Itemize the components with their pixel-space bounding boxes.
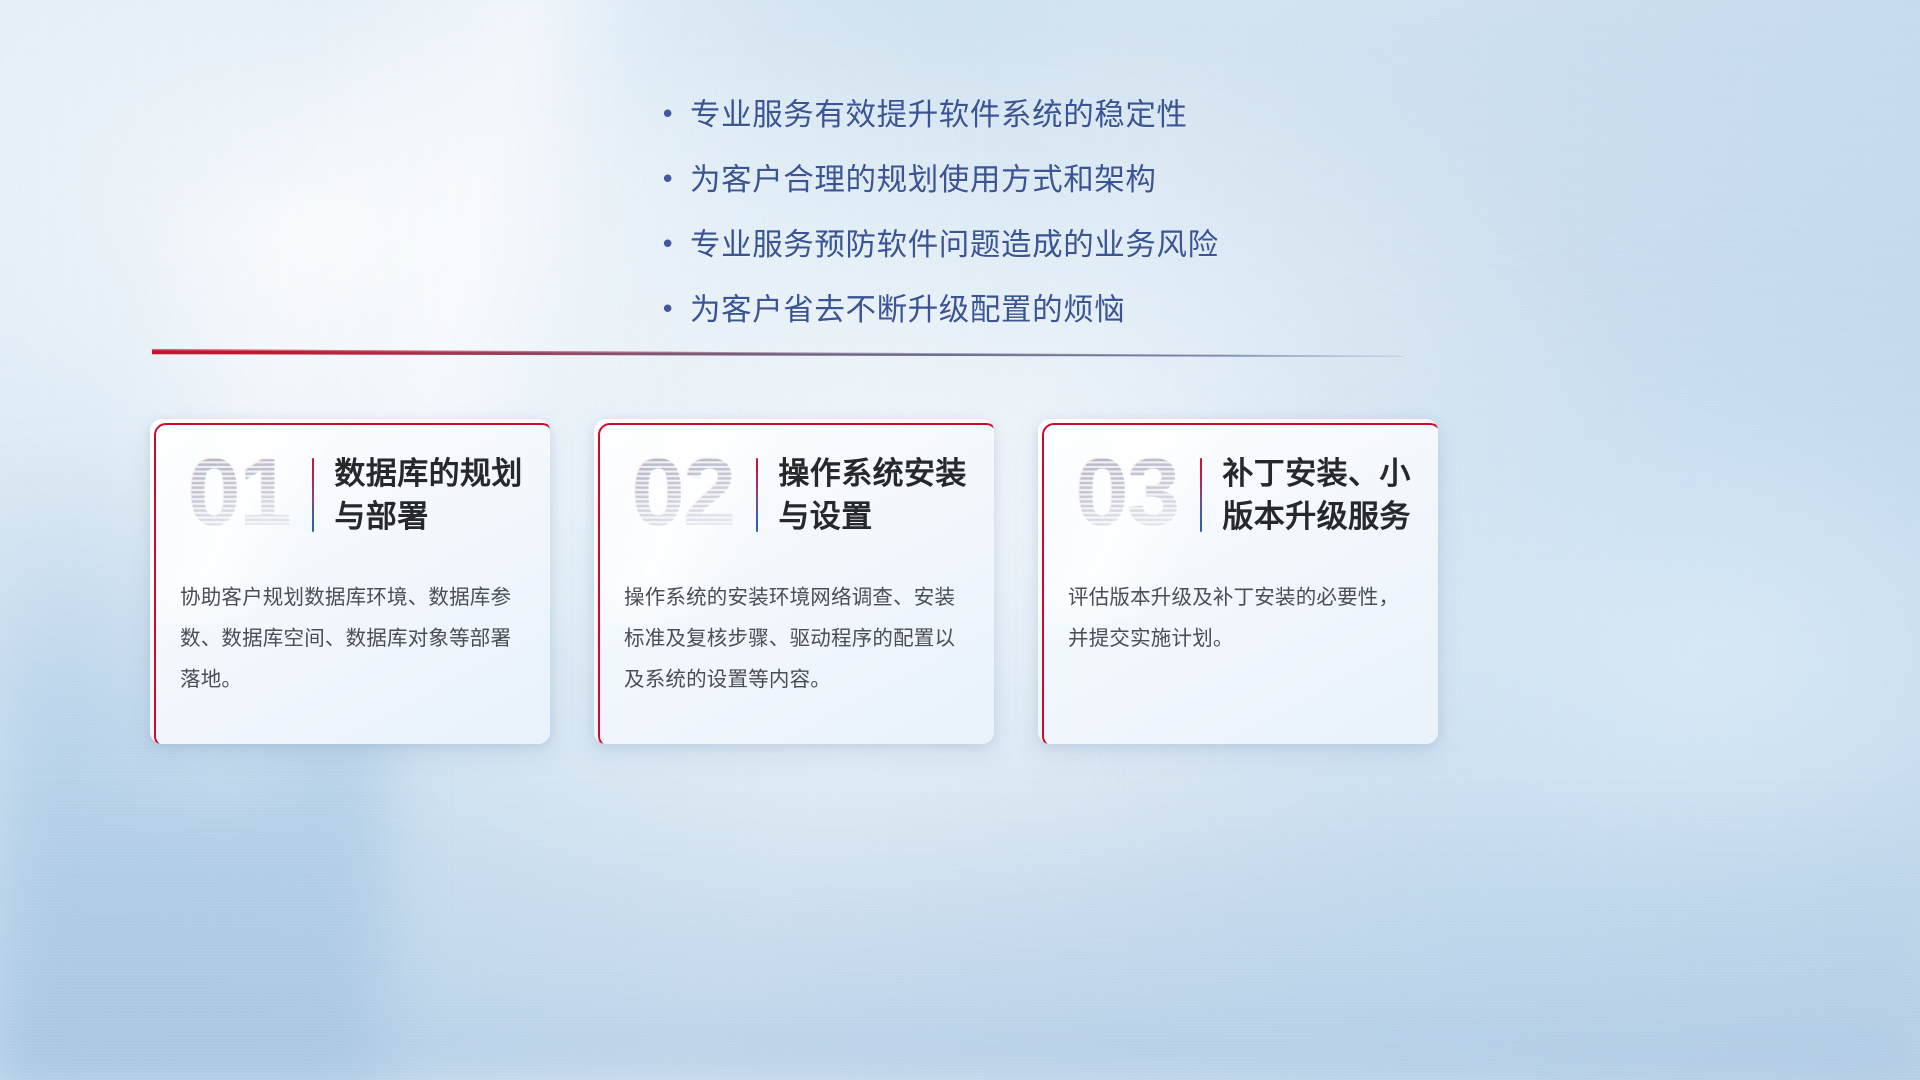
bullet-item-2: • 为客户合理的规划使用方式和架构 — [660, 157, 1420, 222]
service-card-03-surface: 03 03 补丁安装、小 版本升级服务 评估版本升级及补丁安装的必要性，并提交实… — [1038, 419, 1438, 744]
svg-text:03: 03 — [1075, 445, 1178, 545]
bullet-dot-icon: • — [660, 222, 690, 268]
bullet-item-1-label: 专业服务有效提升软件系统的稳定性 — [690, 92, 1188, 138]
bullet-item-1: • 专业服务有效提升软件系统的稳定性 — [660, 92, 1420, 157]
svg-text:02: 02 — [631, 445, 734, 545]
service-card-02[interactable]: 02 02 操作系统安装 与设置 操作系统的安装环境网络调查、安装标准及复核步骤… — [594, 419, 994, 744]
bullet-item-4: • 为客户省去不断升级配置的烦恼 — [660, 287, 1420, 352]
benefits-bullet-list: • 专业服务有效提升软件系统的稳定性 • 为客户合理的规划使用方式和架构 • 专… — [660, 92, 1420, 352]
svg-text:01: 01 — [187, 445, 290, 545]
service-card-03-title: 补丁安装、小 版本升级服务 — [1222, 452, 1410, 538]
service-card-02-surface: 02 02 操作系统安装 与设置 操作系统的安装环境网络调查、安装标准及复核步骤… — [594, 419, 994, 744]
service-card-list: 01 01 数据库的规划 与部署 协助客户规划数据库环境、数据库参数、数据库空间… — [150, 419, 1600, 744]
service-card-02-header: 02 02 操作系统安装 与设置 — [594, 437, 994, 553]
service-card-01-title: 数据库的规划 与部署 — [334, 452, 522, 538]
bullet-item-3: • 专业服务预防软件问题造成的业务风险 — [660, 222, 1420, 287]
bullet-dot-icon: • — [660, 157, 690, 203]
service-card-01-surface: 01 01 数据库的规划 与部署 协助客户规划数据库环境、数据库参数、数据库空间… — [150, 419, 550, 744]
service-card-02-accent-bar — [756, 458, 758, 532]
service-card-03-accent-bar — [1200, 458, 1202, 532]
service-card-02-title: 操作系统安装 与设置 — [778, 452, 966, 538]
service-card-01-description: 协助客户规划数据库环境、数据库参数、数据库空间、数据库对象等部署落地。 — [180, 577, 524, 700]
service-card-03[interactable]: 03 03 补丁安装、小 版本升级服务 评估版本升级及补丁安装的必要性，并提交实… — [1038, 419, 1438, 744]
service-card-03-header: 03 03 补丁安装、小 版本升级服务 — [1038, 437, 1438, 553]
bullet-item-4-label: 为客户省去不断升级配置的烦恼 — [690, 287, 1125, 333]
service-card-02-description: 操作系统的安装环境网络调查、安装标准及复核步骤、驱动程序的配置以及系统的设置等内… — [624, 577, 968, 700]
service-card-03-number-watermark: 03 03 — [1062, 443, 1192, 547]
bullet-item-2-label: 为客户合理的规划使用方式和架构 — [690, 157, 1157, 203]
bullet-dot-icon: • — [660, 92, 690, 138]
service-card-02-number-watermark: 02 02 — [618, 443, 748, 547]
service-card-03-description: 评估版本升级及补丁安装的必要性，并提交实施计划。 — [1068, 577, 1412, 659]
slide-canvas: • 专业服务有效提升软件系统的稳定性 • 为客户合理的规划使用方式和架构 • 专… — [0, 0, 1920, 1080]
bullet-item-3-label: 专业服务预防软件问题造成的业务风险 — [690, 222, 1219, 268]
service-card-01-number-watermark: 01 01 — [174, 443, 304, 547]
service-card-01-accent-bar — [312, 458, 314, 532]
section-divider — [152, 347, 1404, 363]
service-card-01-header: 01 01 数据库的规划 与部署 — [150, 437, 550, 553]
bullet-dot-icon: • — [660, 287, 690, 333]
service-card-01[interactable]: 01 01 数据库的规划 与部署 协助客户规划数据库环境、数据库参数、数据库空间… — [150, 419, 550, 744]
